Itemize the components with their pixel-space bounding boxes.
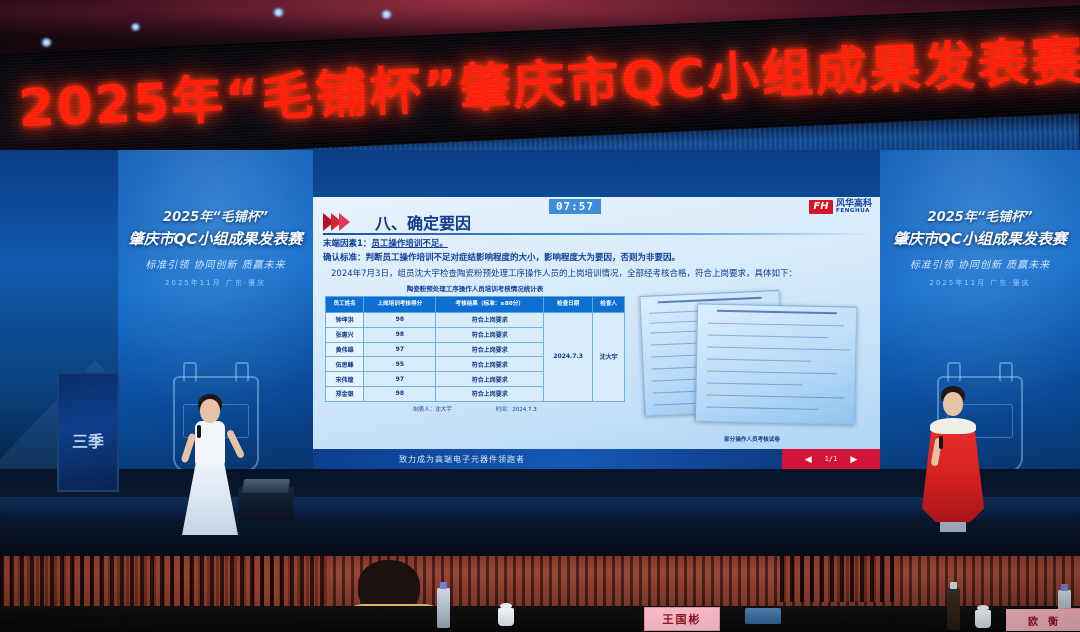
brand-name-cn: 风华高科 xyxy=(836,200,872,208)
fenghua-mark-icon: FH xyxy=(809,200,833,214)
footer-tagline: 致力成为高端电子元器件领跑者 xyxy=(399,454,525,465)
cell-result: 符合上岗要求 xyxy=(436,327,544,342)
poster-subtitle: 标准引领 协同创新 质赢未来 xyxy=(880,256,1080,271)
factor-label: 末端因素1： xyxy=(323,239,371,249)
tissue-box xyxy=(745,608,781,624)
photos-caption: 部分操作人员考核试卷 xyxy=(638,435,866,443)
cell-checker: 沈大宇 xyxy=(593,312,625,401)
microphone-icon xyxy=(197,425,201,438)
col-employee-name: 员工姓名 xyxy=(326,297,364,313)
cell-score: 95 xyxy=(364,357,436,372)
countdown-timer: 07:57 xyxy=(549,199,601,214)
cell-score: 98 xyxy=(364,386,436,401)
brand-name-en: FENGHUA xyxy=(836,208,872,214)
table-header-row: 员工姓名 上岗培训考核得分 考核结果（标准：≥80分） 检查日期 检查人 xyxy=(326,297,625,313)
cell-name: 宋伟煌 xyxy=(326,372,364,387)
tea-cup xyxy=(975,610,991,628)
side-poster-text: 三季 xyxy=(59,428,117,452)
col-score: 上岗培训考核得分 xyxy=(364,297,436,313)
cell-result: 符合上岗要求 xyxy=(436,312,544,327)
triangle-left-icon[interactable]: ◀ xyxy=(805,454,812,465)
presenter-left xyxy=(175,385,245,535)
cell-result: 符合上岗要求 xyxy=(436,372,544,387)
slide-body-line3: 2024年7月3日，组员沈大宇检查陶瓷粉预处理工序操作人员的上岗培训情况，全部经… xyxy=(331,267,797,279)
triangle-right-icon[interactable]: ▶ xyxy=(850,454,857,465)
slide-body-line1: 末端因素1：员工操作培训不足。 xyxy=(323,237,448,249)
presenter-head xyxy=(943,392,963,416)
cell-result: 符合上岗要求 xyxy=(436,342,544,357)
cell-name: 钟坤洪 xyxy=(326,312,364,327)
laptop xyxy=(242,479,290,493)
training-table-block: 陶瓷粉预处理工序操作人员培训考核情况统计表 员工姓名 上岗培训考核得分 考核结果… xyxy=(325,283,625,413)
exam-paper-scan xyxy=(695,303,857,424)
training-assessment-table: 员工姓名 上岗培训考核得分 考核结果（标准：≥80分） 检查日期 检查人 钟坤洪… xyxy=(325,296,625,402)
presenter-collar xyxy=(930,418,976,434)
poster-title-line1: 2025年“毛铺杯” xyxy=(880,206,1080,225)
table-row: 钟坤洪 98 符合上岗要求 2024.7.3 沈大宇 xyxy=(326,312,625,327)
spotlight xyxy=(40,38,53,47)
name-card-text: 王国彬 xyxy=(663,611,702,627)
presentation-slide: 07:57 FH 风华高科 FENGHUA 八、确定要因 末端因素1：员工操作培… xyxy=(313,197,880,469)
poster-date: 2025年11月 广东·肇庆 xyxy=(880,278,1080,288)
cell-score: 98 xyxy=(364,327,436,342)
col-result: 考核结果（标准：≥80分） xyxy=(436,297,544,313)
col-checker: 检查人 xyxy=(593,297,625,313)
poster-date: 2025年11月 广东·肇庆 xyxy=(118,278,313,288)
side-display-poster: 三季 xyxy=(57,372,119,492)
title-divider xyxy=(323,233,870,235)
poster-subtitle: 标准引领 协同创新 质赢未来 xyxy=(118,256,313,271)
presenter-head xyxy=(200,399,220,423)
presenter-cape xyxy=(922,424,984,522)
name-card-text: 欧 xyxy=(1028,613,1038,628)
slide-body-line2: 确认标准：判断员工操作培训不足对症结影响程度的大小，影响程度大为要因，否则为非要… xyxy=(323,251,680,263)
slide-title: 八、确定要因 xyxy=(375,210,471,234)
col-check-date: 检查日期 xyxy=(544,297,593,313)
cell-check-date: 2024.7.3 xyxy=(544,312,593,401)
wood-slat-section xyxy=(780,556,900,602)
cell-result: 符合上岗要求 xyxy=(436,386,544,401)
cell-score: 97 xyxy=(364,342,436,357)
water-bottle xyxy=(947,588,960,630)
table-caption: 陶瓷粉预处理工序操作人员培训考核情况统计表 xyxy=(325,283,625,293)
wood-slat-section xyxy=(0,556,330,610)
cell-name: 黄伟雄 xyxy=(326,342,364,357)
judges-table xyxy=(0,606,1080,632)
page-indicator: 1/1 xyxy=(825,455,838,463)
name-card-text: 衡 xyxy=(1048,613,1058,628)
presenter-arm xyxy=(226,429,245,459)
name-card: 欧 衡 xyxy=(1006,609,1080,631)
chevron-right-icon xyxy=(323,213,347,231)
company-logo: FH 风华高科 FENGHUA xyxy=(809,200,872,214)
table-notes: 制表人：沈大宇 时间：2024.7.3 xyxy=(325,405,625,413)
poster-title-line2: 肇庆市QC小组成果发表赛 xyxy=(880,228,1080,249)
water-bottle xyxy=(437,588,450,628)
cell-name: 伍思峰 xyxy=(326,357,364,372)
poster-title-line1: 2025年“毛铺杯” xyxy=(118,206,313,225)
cell-name: 郑金银 xyxy=(326,386,364,401)
exam-paper-photos: 部分操作人员考核试卷 xyxy=(638,289,866,439)
poster-title-line2: 肇庆市QC小组成果发表赛 xyxy=(118,228,313,249)
cell-result: 符合上岗要求 xyxy=(436,357,544,372)
spotlight xyxy=(272,8,285,17)
cell-score: 97 xyxy=(364,372,436,387)
microphone-icon xyxy=(939,436,943,449)
tea-cup xyxy=(498,608,514,626)
venue-photo: 2025年“毛铺杯”肇庆市QC小组成果发表赛 2025年“毛铺杯” 肇庆市QC小… xyxy=(0,0,1080,632)
name-card: 王国彬 xyxy=(644,607,720,631)
cell-score: 98 xyxy=(364,312,436,327)
slide-navigation[interactable]: ◀ 1/1 ▶ xyxy=(782,449,880,469)
table-note-author: 制表人：沈大宇 xyxy=(413,405,452,413)
presenter-right xyxy=(915,380,991,532)
spotlight xyxy=(130,23,141,31)
cell-name: 张惠兴 xyxy=(326,327,364,342)
spotlight xyxy=(380,10,393,19)
table-note-time: 时间：2024.7.3 xyxy=(496,405,537,413)
factor-value: 员工操作培训不足。 xyxy=(371,239,448,249)
